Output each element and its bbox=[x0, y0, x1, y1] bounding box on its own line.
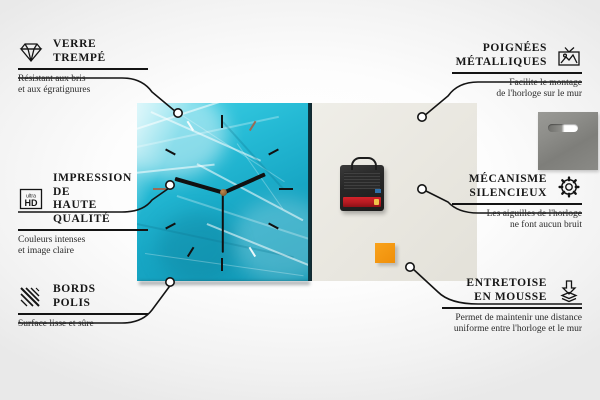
clock-center-cap bbox=[220, 189, 227, 196]
callout-rule bbox=[18, 229, 148, 231]
callout-title: MÉCANISME bbox=[469, 173, 547, 187]
callout-title: VERRE bbox=[53, 38, 106, 52]
mechanism-indicator bbox=[375, 189, 381, 193]
mechanism-hook bbox=[351, 157, 377, 170]
callout-subtitle: Les aiguilles de l'horloge bbox=[452, 209, 582, 221]
foam-spacer-icon bbox=[556, 279, 582, 303]
callout-rule bbox=[18, 313, 148, 315]
callout-rule bbox=[442, 307, 582, 309]
foam-spacer bbox=[375, 243, 395, 263]
silent-clock-mechanism bbox=[340, 165, 384, 211]
callout-subtitle-2: et image claire bbox=[18, 246, 148, 258]
callout-subtitle: Facilite le montage bbox=[452, 78, 582, 90]
callout-title: IMPRESSION DE bbox=[53, 172, 148, 199]
product-composition bbox=[137, 103, 477, 281]
clock-drop-shadow bbox=[139, 281, 310, 285]
callout-title-2: TREMPÉ bbox=[53, 52, 106, 66]
callout-title-2: POLIS bbox=[53, 297, 96, 311]
callout-subtitle-2: ne font aucun bruit bbox=[452, 220, 582, 232]
callout-title: BORDS bbox=[53, 283, 96, 297]
callout-subtitle: Résistant aux bris bbox=[18, 74, 148, 86]
diamond-icon bbox=[18, 40, 44, 64]
picture-hanger-icon bbox=[556, 44, 582, 68]
callout-mecanisme-silencieux: MÉCANISME SILENCIEUX Les aiguilles de l'… bbox=[452, 173, 582, 232]
callout-impression: ultra HD IMPRESSION DE HAUTE QUALITÉ Cou… bbox=[18, 172, 148, 258]
callout-title-2: EN MOUSSE bbox=[466, 291, 547, 305]
polished-edges-icon bbox=[18, 285, 44, 309]
callout-subtitle-2: de l'horloge sur le mur bbox=[452, 89, 582, 101]
callout-title-2: MÉTALLIQUES bbox=[456, 56, 547, 70]
clock-face bbox=[137, 103, 308, 281]
callout-entretoise-en-mousse: ENTRETOISE EN MOUSSE Permet de maintenir… bbox=[442, 277, 582, 336]
hanger-keyhole-slot bbox=[548, 124, 578, 132]
callout-subtitle: Couleurs intenses bbox=[18, 235, 148, 247]
callout-subtitle-2: et aux égratignures bbox=[18, 85, 148, 97]
callout-bords-polis: BORDS POLIS Surface lisse et sûre bbox=[18, 283, 148, 330]
callout-subtitle: Permet de maintenir une distance bbox=[442, 313, 582, 325]
mechanism-label bbox=[344, 172, 380, 189]
callout-verre-trempe: VERRE TREMPÉ Résistant aux bris et aux é… bbox=[18, 38, 148, 97]
callout-rule bbox=[452, 203, 582, 205]
ultra-hd-icon: ultra HD bbox=[18, 187, 44, 211]
callout-title-2: SILENCIEUX bbox=[469, 187, 547, 201]
callout-title: POIGNÉES bbox=[456, 42, 547, 56]
clock-hour-hand bbox=[222, 172, 266, 194]
callout-title-2: HAUTE QUALITÉ bbox=[53, 199, 148, 226]
callout-subtitle: Surface lisse et sûre bbox=[18, 319, 148, 331]
clock-minute-hand bbox=[174, 177, 223, 194]
callout-rule bbox=[452, 72, 582, 74]
svg-text:HD: HD bbox=[25, 198, 38, 208]
infographic-canvas: VERRE TREMPÉ Résistant aux bris et aux é… bbox=[0, 0, 600, 400]
callout-title: ENTRETOISE bbox=[466, 277, 547, 291]
metal-hanger-plate bbox=[538, 112, 598, 170]
wall-clock bbox=[137, 103, 312, 281]
clock-second-hand bbox=[222, 193, 224, 253]
callout-subtitle-2: uniforme entre l'horloge et le mur bbox=[442, 324, 582, 336]
battery bbox=[343, 197, 381, 207]
gear-icon bbox=[556, 175, 582, 199]
callout-rule bbox=[18, 68, 148, 70]
callout-poignees-metalliques: POIGNÉES MÉTALLIQUES Facilite le montage… bbox=[452, 42, 582, 101]
